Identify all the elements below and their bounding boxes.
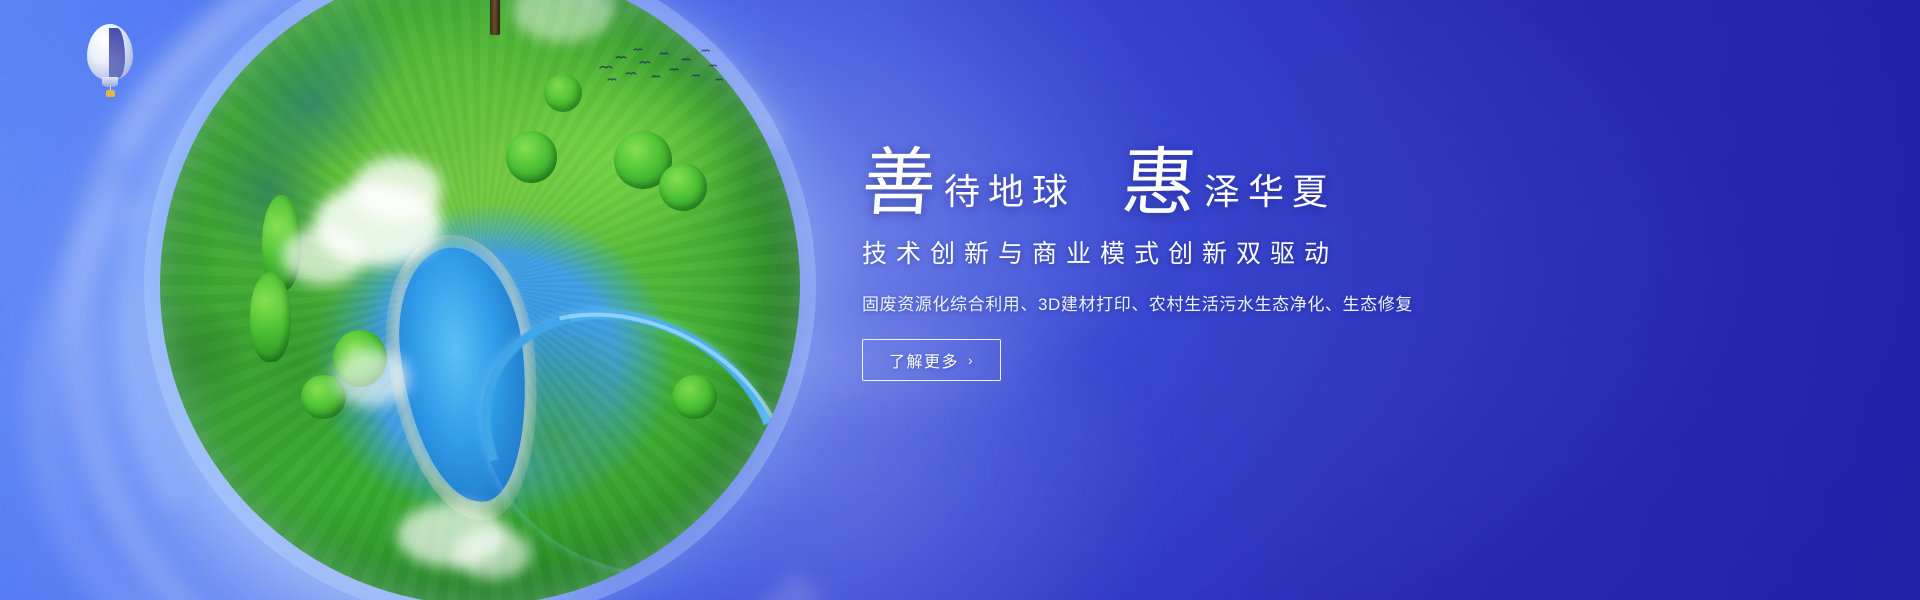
cloud-icon [352,157,442,221]
hero-banner: 善 待地球 惠 泽华夏 技术创新与商业模式创新双驱动 固废资源化综合利用、3D建… [0,0,1920,600]
cloud-icon [282,227,365,285]
tree-icon [506,131,557,182]
learn-more-button[interactable]: 了解更多 › [862,339,1001,381]
tree-icon [672,375,717,420]
hot-air-balloon-icon [87,24,133,106]
learn-more-label: 了解更多 [889,348,959,372]
page-title: 善 待地球 惠 泽华夏 [862,126,1562,218]
hero-content: 善 待地球 惠 泽华夏 技术创新与商业模式创新双驱动 固废资源化综合利用、3D建… [862,126,1562,381]
headline-char-1: 善 [860,150,939,218]
headline-char-2: 惠 [1120,150,1199,218]
headline-rest-2: 泽华夏 [1196,174,1336,218]
big-tree-trunk-icon [490,0,500,35]
page-description: 固废资源化综合利用、3D建材打印、农村生活污水生态净化、生态修复 [862,290,1562,315]
cloud-icon [333,349,410,407]
page-subtitle: 技术创新与商业模式创新双驱动 [862,234,1562,270]
earth-globe-image [160,0,800,600]
globe-sphere [160,0,800,600]
birds-icon [596,46,726,90]
chevron-right-icon: › [968,352,974,368]
tree-icon [250,272,292,362]
balloon-basket [106,90,115,97]
headline-rest-1: 待地球 [936,174,1076,218]
